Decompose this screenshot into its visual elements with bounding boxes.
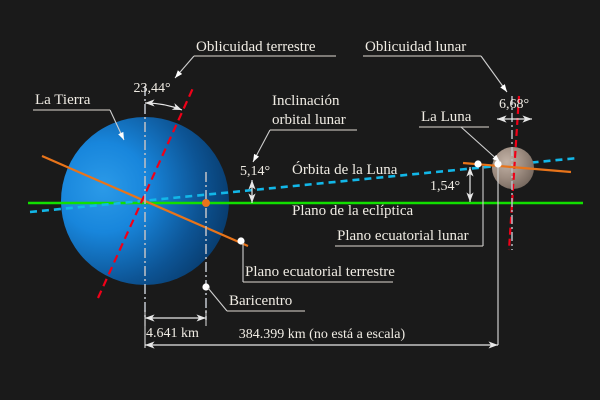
label-moon-orbit: Órbita de la Luna: [292, 161, 398, 178]
barycenter-point: [202, 199, 210, 207]
moon-dimension-anchor-dot: [494, 160, 501, 167]
lunar-orbit-inclination-label: 5,14°: [240, 164, 270, 179]
label-the-moon: La Luna: [421, 109, 472, 125]
label-lunar-orbital-inclination-line2: orbital lunar: [272, 112, 346, 128]
lunar-equator-leader-dot: [474, 160, 481, 167]
earth-tilt-angle-label: 23,44°: [133, 81, 170, 96]
label-lunar-equatorial-plane: Plano ecuatorial lunar: [337, 228, 469, 244]
barycenter-distance-label: 4.641 km: [146, 326, 199, 341]
label-the-earth: La Tierra: [35, 92, 91, 108]
diagram-canvas: 23,44° 5,14° 6,68° 1,54° 4.641 km 384.39…: [0, 0, 600, 400]
label-barycenter: Baricentro: [229, 293, 292, 309]
label-moon-obliquity: Oblicuidad lunar: [365, 39, 466, 55]
label-lunar-orbital-inclination-line1: Inclinación: [272, 93, 340, 109]
earth-moon-distance-label: 384.399 km (no está a escala): [239, 327, 406, 342]
barycenter-leader-dot: [202, 283, 209, 290]
moon-tilt-angle-label: 6,68°: [499, 97, 529, 112]
label-earth-equatorial-plane: Plano ecuatorial terrestre: [245, 264, 395, 280]
lunar-equator-inclination-label: 1,54°: [430, 179, 460, 194]
earth-moon-orientation-diagram: 23,44° 5,14° 6,68° 1,54° 4.641 km 384.39…: [0, 0, 600, 400]
label-ecliptic-plane: Plano de la eclíptica: [292, 203, 414, 219]
label-earth-obliquity: Oblicuidad terrestre: [196, 39, 316, 55]
